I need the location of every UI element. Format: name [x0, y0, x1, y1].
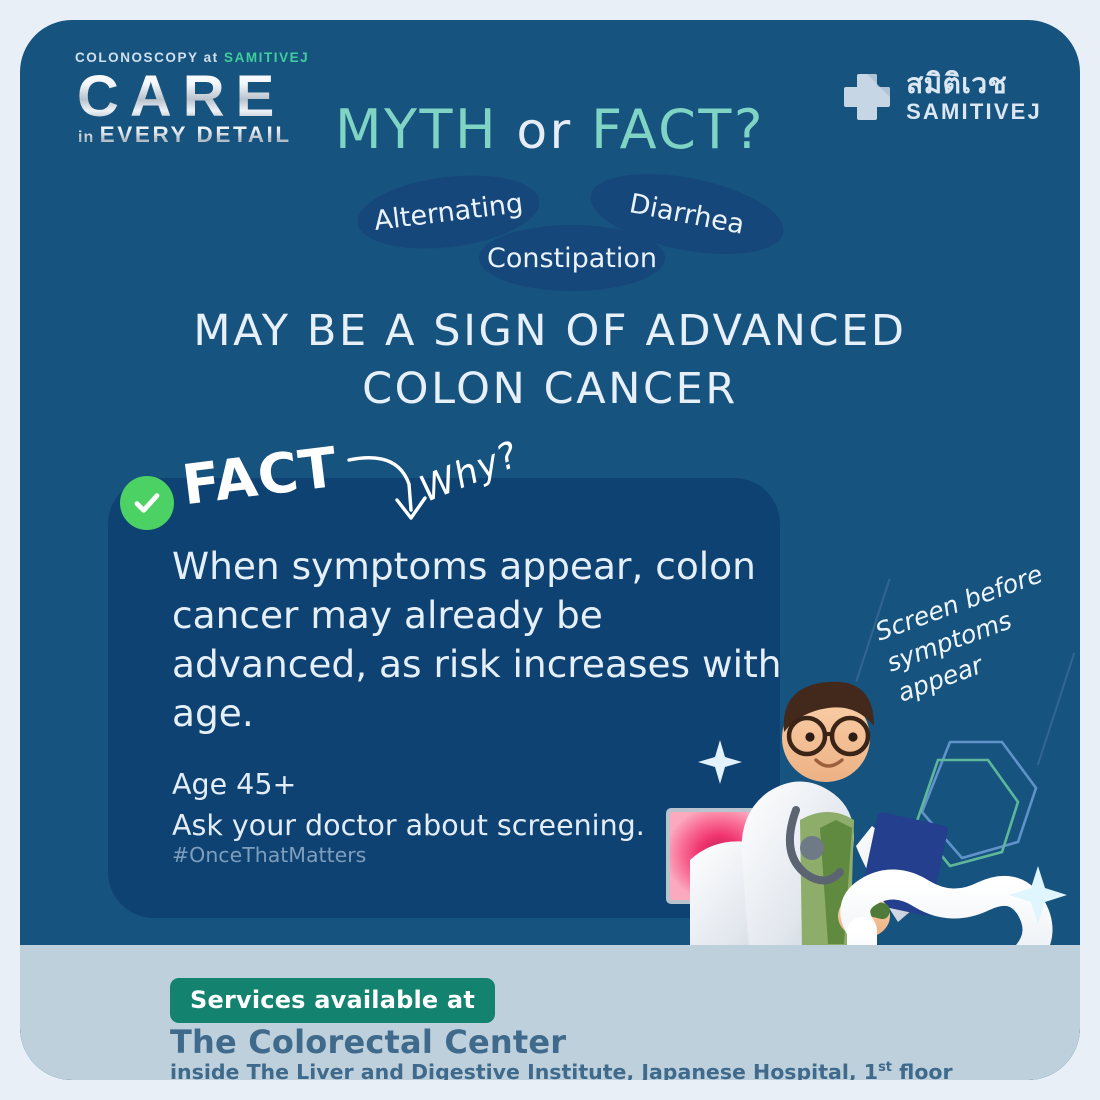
answer-body-text: When symptoms appear, colon cancer may a… [172, 542, 792, 739]
heading-myth: MYTH [335, 98, 498, 161]
myth-or-fact-heading: MYTH or FACT? [20, 98, 1080, 161]
clinic-location-pre: inside The Liver and Digestive Institute… [170, 1060, 878, 1080]
check-circle-icon [120, 476, 174, 530]
check-mark-icon [131, 487, 163, 519]
clinic-location-post: floor [892, 1060, 953, 1080]
ordinal-suffix: st [878, 1060, 892, 1075]
sparkle-icon [1009, 866, 1067, 924]
page-headline: MAY BE A SIGN OF ADVANCED COLON CANCER [20, 302, 1080, 418]
campaign-hashtag: #OnceThatMatters [172, 843, 366, 867]
headline-line-2: COLON CANCER [20, 360, 1080, 418]
age-recommendation: Age 45+ Ask your doctor about screening. [172, 765, 732, 847]
symptom-bubble-label: Constipation [487, 243, 657, 274]
clinic-name: The Colorectal Center [170, 1023, 566, 1061]
heading-or: or [498, 102, 591, 160]
samitivej-thai: สมิติเวช [906, 70, 1042, 98]
symptom-bubble-label: Alternating [372, 187, 524, 236]
heading-fact: FACT? [591, 98, 765, 161]
brand-kicker-pre: COLONOSCOPY at [75, 50, 224, 65]
symptom-bubble-label: Diarrhea [627, 188, 747, 241]
main-card: COLONOSCOPY at SAMITIVEJ CARE in EVERY D… [20, 20, 1080, 1080]
clinic-location: inside The Liver and Digestive Institute… [170, 1060, 953, 1080]
brand-kicker-samitivej: SAMITIVEJ [224, 50, 309, 65]
headline-line-1: MAY BE A SIGN OF ADVANCED [20, 302, 1080, 360]
age-line-2: Ask your doctor about screening. [172, 806, 732, 847]
services-badge: Services available at [170, 978, 495, 1023]
age-line-1: Age 45+ [172, 765, 732, 806]
infographic-canvas: COLONOSCOPY at SAMITIVEJ CARE in EVERY D… [0, 0, 1100, 1100]
symptom-bubble-constipation: Constipation [479, 225, 665, 291]
brand-kicker: COLONOSCOPY at SAMITIVEJ [75, 50, 395, 65]
